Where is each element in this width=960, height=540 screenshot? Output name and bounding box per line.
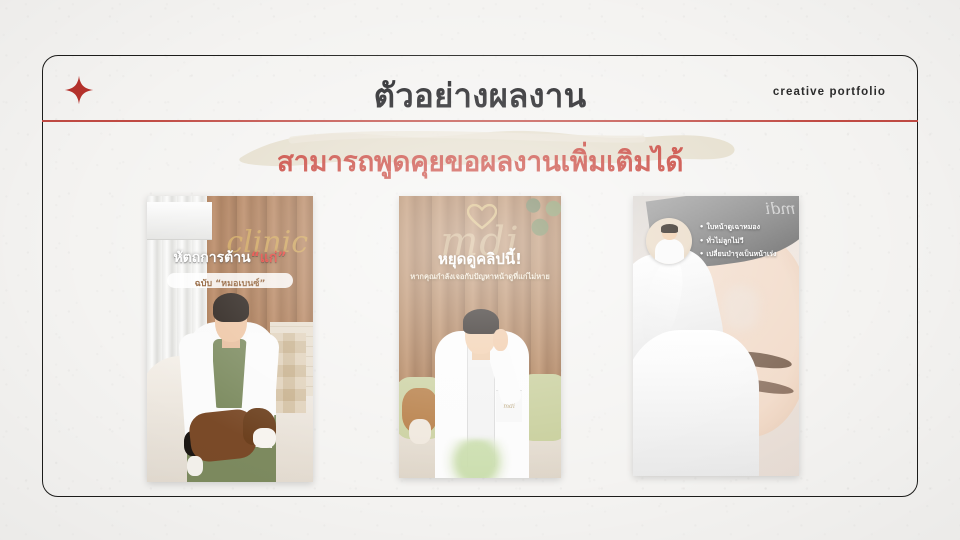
gloved-hand-lower xyxy=(633,330,759,476)
plush-horse-muzzle xyxy=(253,428,276,448)
caption-pill-background xyxy=(167,273,293,288)
bullet-item: ทั่วไม่ลูกไม่วี xyxy=(699,235,795,249)
inset-doctor-body xyxy=(655,239,684,264)
inset-doctor-hair xyxy=(661,224,678,232)
subtitle-text: สามารถพูดคุยขอผลงานเพิ่มเติมได้ xyxy=(42,140,918,184)
bullet-item: ใบหน้าดูเฉาหมอง xyxy=(699,221,795,235)
heart-logo-icon xyxy=(467,204,497,230)
portfolio-card-1[interactable]: clinic หัตถการต้ xyxy=(147,196,313,482)
slide-canvas: ตัวอย่างผลงาน creative portfolio สามารถพ… xyxy=(0,0,960,540)
slide-header: ตัวอย่างผลงาน creative portfolio xyxy=(42,55,918,122)
bullet-item: เปลี่ยนบำรุงเป็นหน้าเร่ง xyxy=(699,248,795,262)
header-divider-rule xyxy=(42,120,918,122)
clinic-wall-logo: clinic xyxy=(226,225,308,260)
header-kicker: creative portfolio xyxy=(773,86,886,98)
doctor-hair xyxy=(213,293,250,322)
portfolio-card-2-photo: mdi mdi xyxy=(399,196,561,478)
portfolio-gallery: clinic หัตถการต้ xyxy=(42,192,918,492)
doctor-hair xyxy=(463,309,499,334)
portfolio-card-3-photo: mdi ใบหน้าดูเฉาหมอง ทั่วไม่ลูกไม่วี เปลี… xyxy=(633,196,799,476)
portfolio-card-3[interactable]: mdi ใบหน้าดูเฉาหมอง ทั่วไม่ลูกไม่วี เปลี… xyxy=(633,196,799,476)
portfolio-card-2[interactable]: mdi mdi xyxy=(399,196,561,478)
portfolio-card-3-bullet-list: ใบหน้าดูเฉาหมอง ทั่วไม่ลูกไม่วี เปลี่ยนบ… xyxy=(699,221,795,262)
doctor-hand xyxy=(493,329,508,352)
plush-horse-hoof xyxy=(187,456,204,476)
plush-toy-detail xyxy=(409,419,432,444)
curtain-pelmet xyxy=(147,202,212,240)
clinic-watermark: mdi xyxy=(765,199,796,218)
subtitle-band: สามารถพูดคุยขอผลงานเพิ่มเติมได้ xyxy=(42,126,918,188)
foliage xyxy=(522,196,561,252)
portfolio-card-1-photo: clinic xyxy=(147,196,313,482)
censor-blur xyxy=(723,286,760,331)
foreground-blur xyxy=(444,439,509,478)
